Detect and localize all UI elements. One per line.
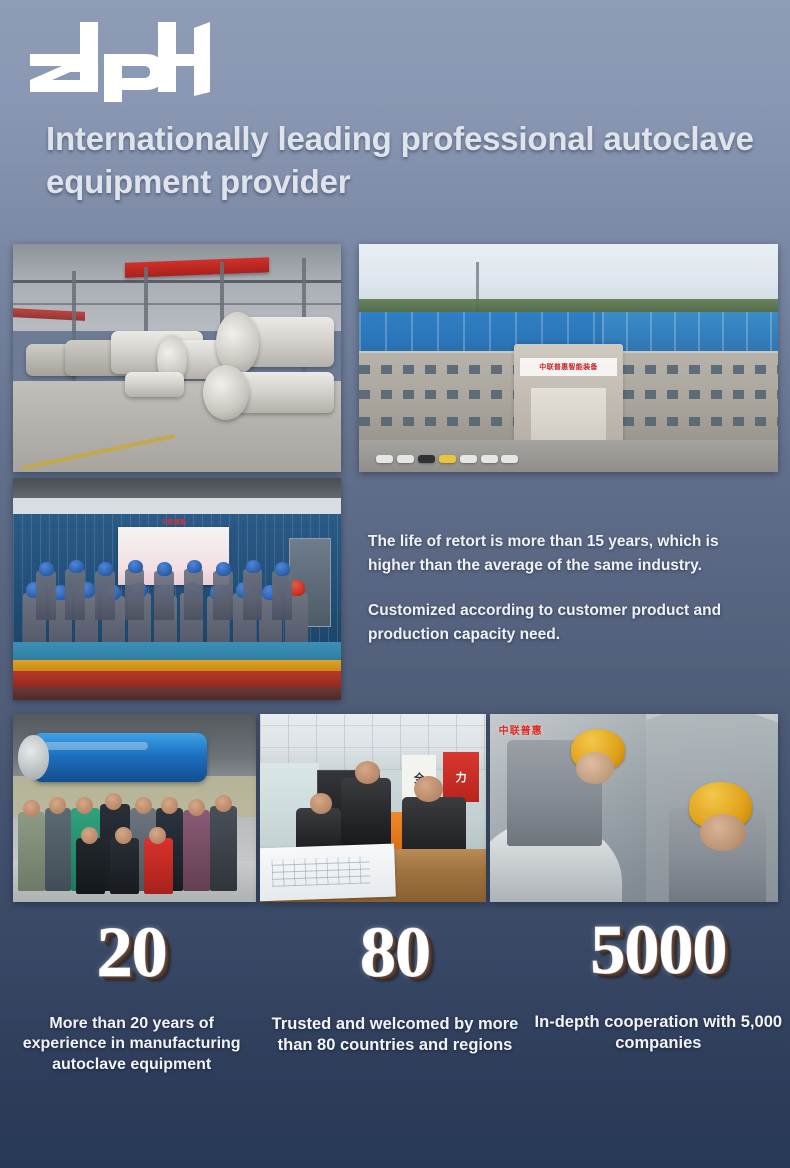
stat-countries: 80 Trusted and welcomed by more than 80 …: [263, 916, 526, 1075]
factory-campus-aerial-photo[interactable]: 中联普惠智能装备: [359, 244, 778, 472]
customer-site-photo[interactable]: [13, 714, 256, 902]
customer-site-illustration: [13, 714, 256, 902]
stat-years: 20 More than 20 years of experience in m…: [0, 916, 263, 1075]
building-sign-text: 中联普惠智能装备: [520, 358, 616, 376]
welding-production-illustration: 中联普惠: [490, 714, 778, 902]
zlph-wordmark-logo[interactable]: [18, 18, 228, 106]
stat-years-caption: More than 20 years of experience in manu…: [6, 1014, 257, 1075]
welding-production-photo[interactable]: 中联普惠: [490, 714, 778, 902]
page-title: Internationally leading professional aut…: [46, 118, 768, 204]
engineering-design-photo[interactable]: 全 力: [260, 714, 486, 902]
factory-workshop-photo[interactable]: [13, 244, 341, 472]
stat-countries-number: 80: [360, 916, 430, 988]
staff-group-illustration: 中联普惠: [13, 478, 341, 700]
feature-copy-block: The life of retort is more than 15 years…: [368, 530, 768, 646]
staff-group-photo[interactable]: 中联普惠: [13, 478, 341, 700]
engineering-design-illustration: 全 力: [260, 714, 486, 902]
stat-countries-caption: Trusted and welcomed by more than 80 cou…: [269, 1014, 520, 1056]
photo-watermark: 中联普惠: [499, 722, 543, 737]
factory-workshop-illustration: [13, 244, 341, 472]
stat-companies-caption: In-depth cooperation with 5,000 companie…: [533, 1012, 784, 1054]
copy-paragraph-2: Customized according to customer product…: [368, 599, 768, 646]
campus-aerial-illustration: 中联普惠智能装备: [359, 244, 778, 472]
logo-glyphs: [18, 18, 218, 102]
copy-paragraph-1: The life of retort is more than 15 years…: [368, 530, 768, 577]
page-header: Internationally leading professional aut…: [0, 0, 790, 204]
stat-years-number: 20: [97, 916, 167, 988]
stat-companies-number: 5000: [590, 916, 726, 986]
stat-companies: 5000 In-depth cooperation with 5,000 com…: [527, 916, 790, 1075]
group-photo-banner-text: 中联普惠: [128, 516, 220, 527]
statistics-section: 20 More than 20 years of experience in m…: [0, 916, 790, 1075]
